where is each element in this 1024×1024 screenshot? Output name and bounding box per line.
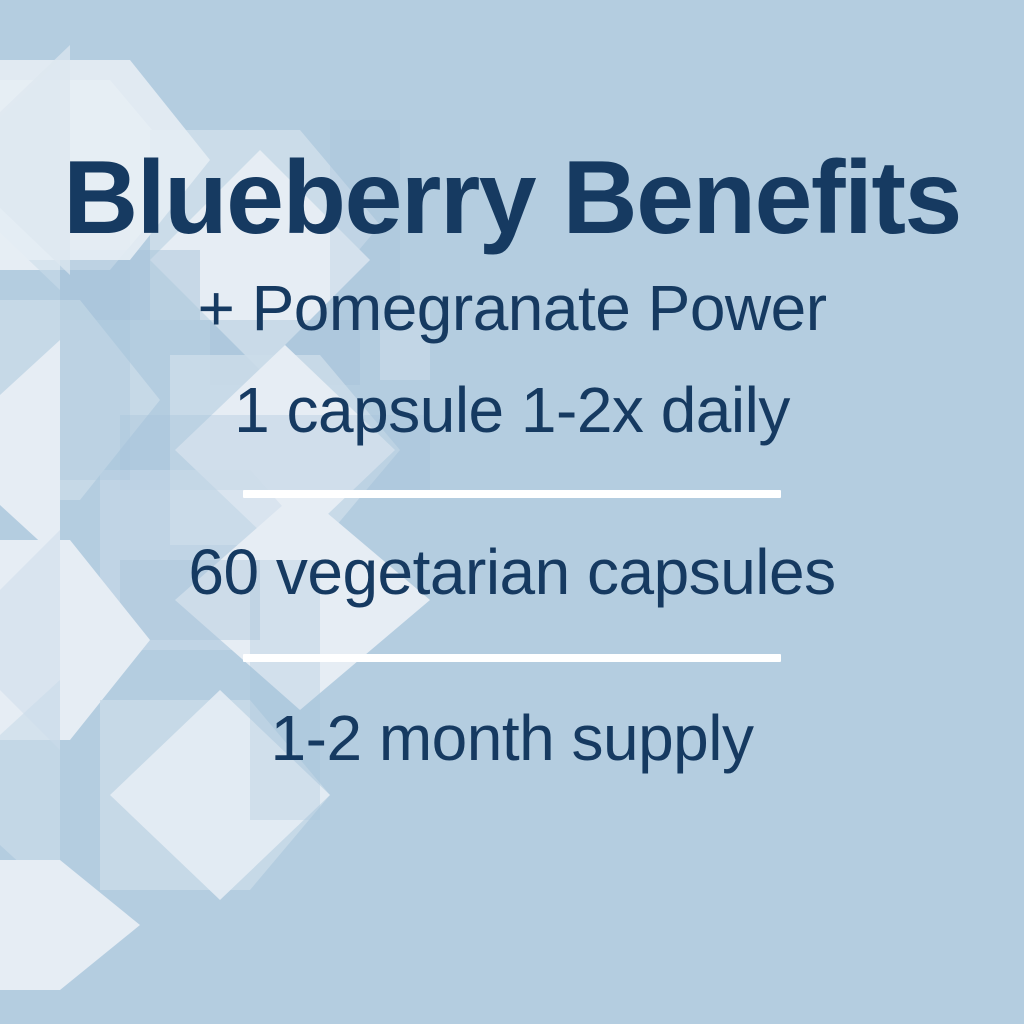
subtitle: + Pomegranate Power bbox=[197, 276, 826, 340]
supply-duration-text: 1-2 month supply bbox=[271, 706, 754, 770]
page-title: Blueberry Benefits bbox=[63, 146, 961, 250]
divider-top bbox=[243, 490, 781, 498]
dosage-text: 1 capsule 1-2x daily bbox=[234, 378, 790, 442]
divider-bottom bbox=[243, 654, 781, 662]
product-benefits-graphic: Blueberry Benefits + Pomegranate Power 1… bbox=[0, 0, 1024, 1024]
text-content-stack: Blueberry Benefits + Pomegranate Power 1… bbox=[0, 0, 1024, 1024]
capsule-count-text: 60 vegetarian capsules bbox=[188, 540, 835, 604]
